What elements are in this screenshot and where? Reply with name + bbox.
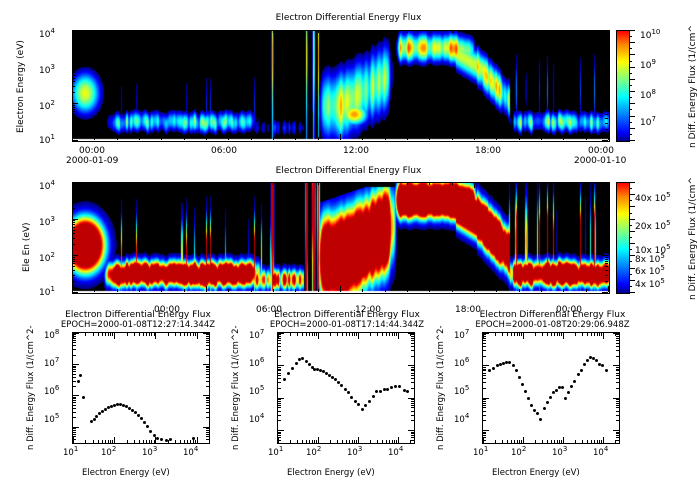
axis-tick xyxy=(495,440,496,443)
axis-tick xyxy=(411,346,414,347)
axis-tick xyxy=(429,137,430,140)
colorbar-tick xyxy=(629,194,635,195)
axis-tick xyxy=(72,45,75,46)
spectrum-3-title: Electron Differential Energy Flux xyxy=(455,310,650,320)
axis-tick xyxy=(206,340,209,341)
axis-tick xyxy=(278,333,284,334)
data-point xyxy=(546,401,549,404)
axis-tick xyxy=(616,336,619,337)
ytick-exp: 1 xyxy=(50,285,54,293)
axis-tick xyxy=(184,30,185,33)
axis-tick xyxy=(278,378,281,379)
axis-tick xyxy=(616,420,619,421)
axis-tick xyxy=(168,440,169,443)
axis-tick xyxy=(586,137,587,140)
axis-tick xyxy=(93,333,94,336)
axis-tick xyxy=(362,182,363,185)
axis-tick xyxy=(139,30,140,33)
axis-tick xyxy=(411,378,414,379)
axis-tick xyxy=(605,201,608,202)
axis-tick xyxy=(411,382,414,383)
axis-tick xyxy=(314,440,315,443)
xtick-mant: 10 xyxy=(142,448,153,458)
cbar-mant: 20x 10 xyxy=(635,222,666,232)
spectrum-2-title: Electron Differential Energy Flux xyxy=(252,310,442,320)
axis-tick xyxy=(105,440,106,443)
axis-tick xyxy=(251,289,252,292)
axis-tick xyxy=(72,219,78,220)
data-point xyxy=(90,420,93,423)
colorbar-tick xyxy=(629,79,635,80)
axis-tick xyxy=(72,70,75,71)
axis-tick xyxy=(385,137,386,140)
axis-tick xyxy=(340,182,341,188)
axis-tick xyxy=(411,350,414,351)
axis-tick xyxy=(180,333,181,336)
panel1-ylabel: Electron Energy (eV) xyxy=(16,40,26,133)
axis-tick xyxy=(73,334,76,335)
axis-tick xyxy=(429,30,430,33)
axis-tick xyxy=(72,56,75,57)
ytick-exp: 7 xyxy=(55,356,59,364)
axis-tick xyxy=(411,437,414,438)
axis-tick xyxy=(72,257,75,258)
axis-tick xyxy=(411,403,414,404)
axis-tick xyxy=(206,402,209,403)
axis-tick xyxy=(190,440,191,443)
colorbar-tick xyxy=(629,61,632,62)
axis-tick xyxy=(605,114,608,115)
axis-tick xyxy=(85,333,86,336)
axis-tick xyxy=(605,72,608,73)
axis-tick xyxy=(146,440,147,443)
colorbar-tick xyxy=(629,255,635,256)
axis-tick xyxy=(616,401,619,402)
axis-tick xyxy=(278,415,281,416)
axis-tick xyxy=(228,137,229,140)
axis-tick xyxy=(206,381,209,382)
xtick-mant: 10 xyxy=(268,448,279,458)
axis-tick xyxy=(273,182,274,185)
axis-tick xyxy=(616,403,619,404)
axis-tick xyxy=(114,333,115,339)
data-point xyxy=(347,391,350,394)
axis-tick xyxy=(73,355,76,356)
axis-tick xyxy=(206,342,209,343)
axis-tick xyxy=(72,72,75,73)
axis-tick xyxy=(605,123,608,124)
axis-tick xyxy=(127,333,128,336)
axis-tick xyxy=(72,123,75,124)
axis-tick xyxy=(605,197,608,198)
axis-tick xyxy=(605,107,608,108)
colorbar-tick xyxy=(629,274,632,275)
axis-tick xyxy=(72,67,78,68)
axis-tick xyxy=(377,440,378,443)
xtick-mant: 10 xyxy=(473,448,484,458)
ytick-mant: 10 xyxy=(249,359,260,369)
colorbar-tick xyxy=(629,42,635,43)
axis-tick xyxy=(278,407,281,408)
axis-tick xyxy=(206,417,209,418)
axis-tick xyxy=(206,134,207,140)
xtick-mant: 10 xyxy=(306,448,317,458)
ytick-exp: 8 xyxy=(55,328,59,336)
colorbar-tick xyxy=(629,225,632,226)
axis-tick xyxy=(483,443,486,444)
axis-tick xyxy=(605,224,608,225)
data-point xyxy=(383,388,386,391)
colorbar-tick xyxy=(629,286,632,287)
axis-tick xyxy=(73,338,76,339)
axis-tick xyxy=(72,75,75,76)
spectrum-3-subtitle: EPOCH=2000-01-08T20:29:06.948Z xyxy=(455,320,650,330)
colorbar-tick xyxy=(629,128,635,129)
panel1-xtick: 18:00 xyxy=(475,146,501,156)
data-point xyxy=(344,388,347,391)
data-point xyxy=(508,361,511,364)
ytick-exp: 5 xyxy=(465,384,469,392)
axis-tick xyxy=(203,427,209,428)
axis-tick xyxy=(511,333,512,336)
data-point xyxy=(368,400,371,403)
axis-tick xyxy=(519,30,520,33)
axis-tick xyxy=(72,49,75,50)
axis-tick xyxy=(354,440,355,443)
axis-tick xyxy=(161,30,162,33)
axis-tick xyxy=(616,437,619,438)
axis-tick xyxy=(616,370,619,371)
axis-tick xyxy=(605,233,608,234)
axis-tick xyxy=(616,440,619,441)
axis-tick xyxy=(496,30,497,33)
data-point xyxy=(567,391,570,394)
axis-tick xyxy=(483,334,486,335)
data-point xyxy=(595,359,598,362)
axis-tick xyxy=(149,333,150,336)
axis-tick xyxy=(514,440,515,443)
axis-tick xyxy=(575,333,576,336)
data-point xyxy=(379,390,382,393)
axis-tick xyxy=(554,440,555,443)
panel1-ytick: 102 xyxy=(39,102,55,112)
axis-tick xyxy=(386,440,387,443)
panel2-ylabel: Ele En (eV) xyxy=(22,222,32,272)
spectrum-1-ytick: 107 xyxy=(44,359,59,369)
axis-tick xyxy=(483,420,486,421)
axis-tick xyxy=(278,440,281,441)
axis-tick xyxy=(377,333,378,336)
axis-tick xyxy=(73,412,76,413)
axis-tick xyxy=(602,292,608,293)
axis-tick xyxy=(483,399,486,400)
axis-tick xyxy=(605,261,608,262)
axis-tick xyxy=(117,30,118,33)
axis-tick xyxy=(72,222,75,223)
axis-tick xyxy=(312,333,313,336)
ytick-mant: 10 xyxy=(39,288,50,298)
axis-tick xyxy=(209,333,210,336)
axis-tick xyxy=(206,369,209,370)
axis-tick xyxy=(278,398,284,399)
panel1-cbar-tick: 109 xyxy=(640,61,656,71)
axis-tick xyxy=(190,333,191,336)
axis-tick xyxy=(342,440,343,443)
ytick-exp: 3 xyxy=(50,63,54,71)
axis-tick xyxy=(73,405,76,406)
axis-tick xyxy=(605,275,608,276)
axis-tick xyxy=(411,432,414,433)
axis-tick xyxy=(474,286,475,292)
axis-tick xyxy=(535,440,536,443)
axis-tick xyxy=(72,111,75,112)
axis-tick xyxy=(613,430,619,431)
ytick-exp: 2 xyxy=(50,251,54,259)
axis-tick xyxy=(561,333,562,336)
data-point xyxy=(301,357,304,360)
data-point xyxy=(143,421,146,424)
axis-tick xyxy=(72,109,75,110)
xtick-exp: 1 xyxy=(279,445,283,453)
axis-tick xyxy=(519,333,520,336)
axis-tick xyxy=(605,92,608,93)
axis-tick xyxy=(73,342,76,343)
axis-tick xyxy=(382,333,383,336)
axis-tick xyxy=(605,38,608,39)
data-point xyxy=(149,430,152,433)
axis-tick xyxy=(605,266,608,267)
axis-tick xyxy=(561,440,562,443)
axis-tick xyxy=(605,208,608,209)
data-point xyxy=(512,364,515,367)
ytick-mant: 10 xyxy=(44,387,55,397)
axis-tick xyxy=(605,238,608,239)
axis-tick xyxy=(483,356,486,357)
axis-tick xyxy=(206,397,209,398)
axis-tick xyxy=(72,238,75,239)
panel2-ytick: 103 xyxy=(39,218,55,228)
axis-tick xyxy=(608,30,609,36)
xtick-exp: 4 xyxy=(604,445,608,453)
axis-tick xyxy=(599,440,600,443)
axis-tick xyxy=(496,137,497,140)
axis-tick xyxy=(616,373,619,374)
axis-tick xyxy=(206,443,209,444)
axis-tick xyxy=(72,270,75,271)
spectrum-1-plot xyxy=(72,332,210,444)
axis-tick xyxy=(597,440,598,443)
axis-tick xyxy=(605,118,608,119)
spectrum-2-ytick: 105 xyxy=(249,387,264,397)
axis-tick xyxy=(616,411,619,412)
cbar-mant: 6x 10 xyxy=(635,267,660,277)
axis-tick xyxy=(616,433,619,434)
axis-tick xyxy=(346,333,347,336)
axis-tick xyxy=(155,437,156,443)
axis-tick xyxy=(511,440,512,443)
axis-tick xyxy=(483,338,486,339)
axis-tick xyxy=(411,415,414,416)
axis-tick xyxy=(72,208,75,209)
spectrum-3-xtick: 101 xyxy=(473,448,488,458)
axis-tick xyxy=(72,140,78,141)
spectrum-1-ylabel: n Diff. Energy Flux (1/(cm^2- xyxy=(26,325,36,450)
axis-tick xyxy=(605,78,608,79)
axis-tick xyxy=(127,440,128,443)
axis-tick xyxy=(73,366,76,367)
axis-tick xyxy=(73,443,76,444)
colorbar-tick xyxy=(629,261,632,262)
axis-tick xyxy=(206,432,209,433)
cbar-exp: 5 xyxy=(660,277,664,285)
spectrum-3-ytick: 104 xyxy=(454,415,469,425)
axis-tick xyxy=(411,411,414,412)
axis-tick xyxy=(616,399,619,400)
data-point xyxy=(305,360,308,363)
axis-tick xyxy=(278,365,284,366)
panel2-cbar-tick: 20x 105 xyxy=(635,222,671,232)
ytick-mant: 10 xyxy=(454,331,465,341)
data-point xyxy=(536,412,539,415)
xtick-mant: 10 xyxy=(388,448,399,458)
axis-tick xyxy=(161,289,162,292)
axis-tick xyxy=(143,333,144,336)
axis-tick xyxy=(358,333,359,339)
axis-tick xyxy=(452,30,453,33)
axis-tick xyxy=(72,224,75,225)
axis-tick xyxy=(411,401,414,402)
axis-tick xyxy=(278,369,281,370)
axis-tick xyxy=(452,289,453,292)
xtick-exp: 1 xyxy=(484,445,488,453)
cbar-mant: 4x 10 xyxy=(635,280,660,290)
axis-tick xyxy=(547,333,548,336)
axis-tick xyxy=(483,401,486,402)
data-point xyxy=(398,385,401,388)
axis-tick xyxy=(73,381,76,382)
axis-tick xyxy=(278,388,281,389)
axis-tick xyxy=(496,289,497,292)
data-point xyxy=(543,407,546,410)
axis-tick xyxy=(517,333,518,336)
axis-tick xyxy=(411,367,414,368)
axis-tick xyxy=(184,182,185,185)
axis-tick xyxy=(309,440,310,443)
axis-tick xyxy=(605,244,608,245)
axis-tick xyxy=(72,292,78,293)
axis-tick xyxy=(72,114,75,115)
axis-tick xyxy=(386,333,387,336)
axis-tick xyxy=(362,30,363,33)
axis-tick xyxy=(514,333,515,336)
ytick-exp: 6 xyxy=(260,356,264,364)
axis-tick xyxy=(228,30,229,33)
axis-tick xyxy=(370,440,371,443)
axis-tick xyxy=(72,134,73,140)
axis-tick xyxy=(547,440,548,443)
axis-tick xyxy=(616,443,619,444)
data-point xyxy=(160,438,163,441)
panel1-xdate-left: 2000-01-09 xyxy=(66,156,118,166)
axis-tick xyxy=(94,182,95,185)
axis-tick xyxy=(72,266,75,267)
axis-tick xyxy=(407,30,408,33)
ytick-mant: 10 xyxy=(454,415,465,425)
axis-tick xyxy=(616,350,619,351)
axis-tick xyxy=(85,440,86,443)
panel2-cbar-tick: 40x 105 xyxy=(635,194,671,204)
data-point xyxy=(156,437,159,440)
axis-tick xyxy=(278,373,281,374)
spectrum-3-ytick: 106 xyxy=(454,359,469,369)
axis-tick xyxy=(94,30,95,33)
data-point xyxy=(573,380,576,383)
data-point xyxy=(77,380,80,383)
data-point xyxy=(555,389,558,392)
data-point xyxy=(527,397,530,400)
spectrum-3-xtick: 102 xyxy=(511,448,526,458)
axis-tick xyxy=(73,340,76,341)
axis-tick xyxy=(408,430,414,431)
axis-tick xyxy=(278,343,281,344)
data-point xyxy=(283,378,286,381)
axis-tick xyxy=(72,118,75,119)
axis-tick xyxy=(605,263,608,264)
panel1-colorbar xyxy=(616,30,630,142)
axis-tick xyxy=(161,182,162,185)
ytick-exp: 6 xyxy=(55,384,59,392)
axis-tick xyxy=(502,333,503,336)
axis-tick xyxy=(605,86,608,87)
axis-tick xyxy=(73,345,76,346)
data-point xyxy=(488,369,491,372)
data-point xyxy=(372,395,375,398)
axis-tick xyxy=(356,333,357,336)
axis-tick xyxy=(72,201,75,202)
colorbar-tick xyxy=(629,206,635,207)
colorbar-tick xyxy=(629,97,632,98)
axis-tick xyxy=(411,369,414,370)
axis-tick xyxy=(605,45,608,46)
data-point xyxy=(586,359,589,362)
axis-tick xyxy=(602,103,608,104)
axis-tick xyxy=(117,289,118,292)
spectrum-2-xlabel: Electron Energy (eV) xyxy=(287,468,375,478)
axis-tick xyxy=(608,182,609,188)
axis-tick xyxy=(474,30,475,36)
panel1-spectrogram xyxy=(72,30,610,142)
axis-tick xyxy=(385,289,386,292)
axis-tick xyxy=(483,365,489,366)
axis-tick xyxy=(602,255,608,256)
axis-tick xyxy=(452,182,453,185)
axis-tick xyxy=(394,333,395,336)
axis-tick xyxy=(429,289,430,292)
axis-tick xyxy=(108,333,109,336)
axis-tick xyxy=(411,435,414,436)
axis-tick xyxy=(72,263,75,264)
axis-tick xyxy=(597,333,598,336)
axis-tick xyxy=(278,350,281,351)
ytick-exp: 5 xyxy=(55,412,59,420)
axis-tick xyxy=(72,286,73,292)
data-point xyxy=(386,388,389,391)
axis-tick xyxy=(278,399,281,400)
spectrum-2-ylabel: n Diff. Energy Flux (1/(cm^2- xyxy=(231,325,241,450)
cbar-exp: 8 xyxy=(651,88,655,96)
axis-tick xyxy=(72,193,75,194)
axis-tick xyxy=(72,275,75,276)
